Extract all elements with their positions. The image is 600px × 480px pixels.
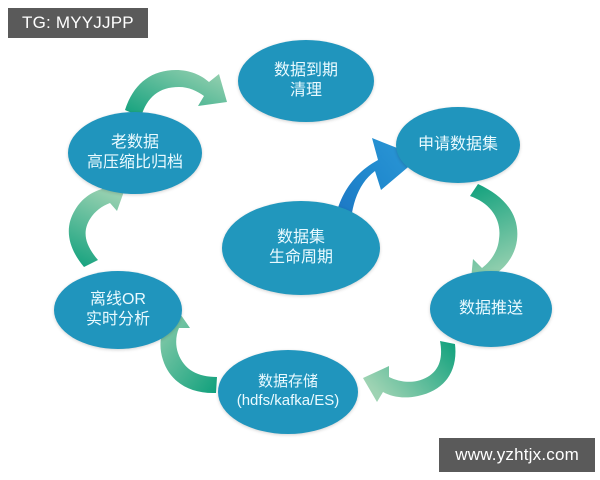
arrow-push-to-store [363, 341, 455, 402]
node-analyze-line2: 实时分析 [86, 310, 150, 330]
node-dataset-lifecycle[interactable]: 数据集 生命周期 [222, 201, 380, 295]
node-offline-or-realtime-analysis[interactable]: 离线OR 实时分析 [54, 271, 182, 349]
node-expire-line2: 清理 [290, 81, 322, 101]
tg-watermark-badge: TG: MYYJJPP [8, 8, 148, 38]
node-archive-line1: 老数据 [111, 133, 159, 153]
node-center-line1: 数据集 [277, 228, 325, 248]
node-center-line2: 生命周期 [269, 248, 333, 268]
node-old-data-archive[interactable]: 老数据 高压缩比归档 [68, 112, 202, 194]
node-apply-dataset[interactable]: 申请数据集 [396, 107, 520, 183]
node-push-line1: 数据推送 [459, 299, 523, 319]
node-analyze-line1: 离线OR [90, 290, 146, 310]
node-archive-line2: 高压缩比归档 [87, 153, 183, 173]
node-data-expiration-cleanup[interactable]: 数据到期 清理 [238, 40, 374, 122]
site-watermark-badge: www.yzhtjx.com [439, 438, 595, 472]
node-apply-line1: 申请数据集 [418, 135, 498, 155]
node-data-push[interactable]: 数据推送 [430, 271, 552, 347]
node-expire-line1: 数据到期 [274, 61, 338, 81]
arrow-archive-to-expire [125, 70, 227, 117]
node-store-line1: 数据存储 [258, 373, 318, 392]
node-data-storage[interactable]: 数据存储 (hdfs/kafka/ES) [218, 350, 358, 434]
node-store-line2: (hdfs/kafka/ES) [237, 392, 340, 411]
